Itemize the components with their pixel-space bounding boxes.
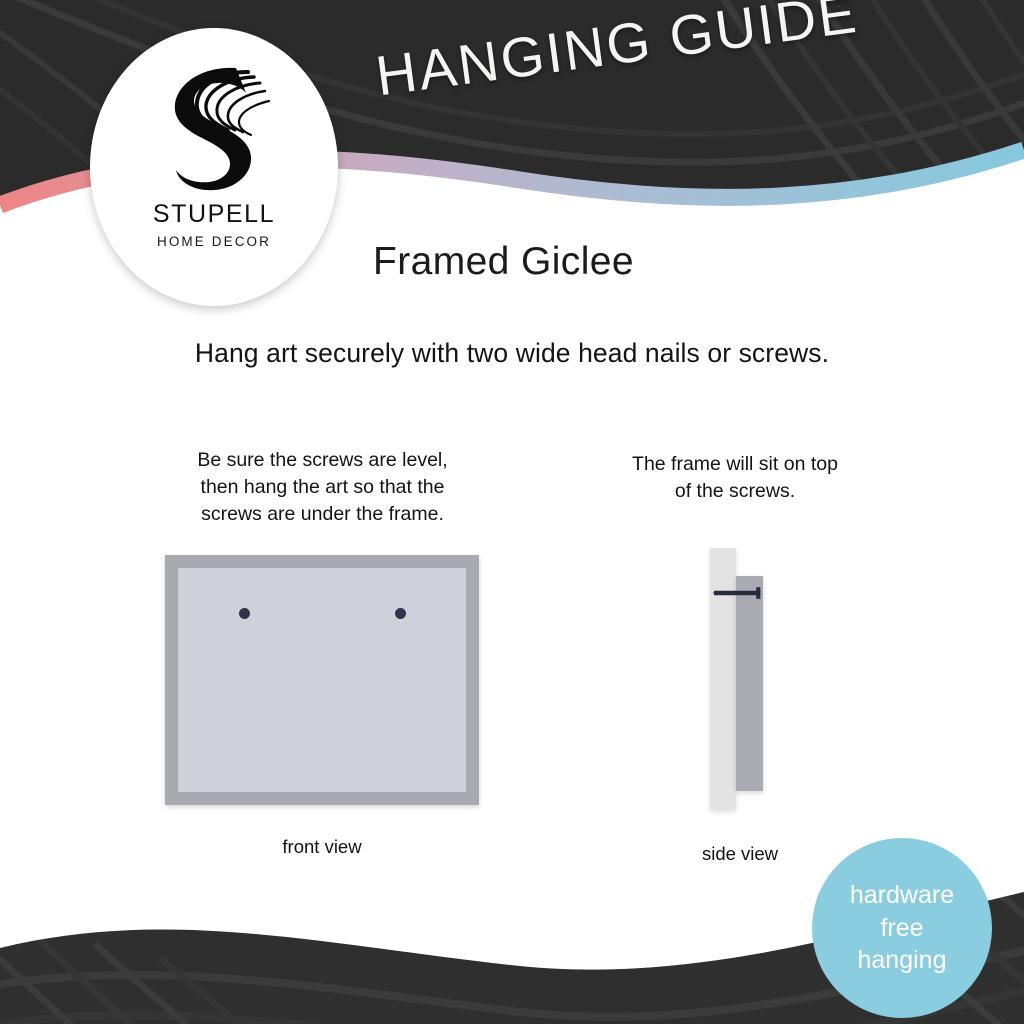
frame-mat-area [178,568,466,792]
badge-line-3: hanging [858,944,947,977]
side-caption-line-2: of the screws. [592,478,878,505]
brand-name: STUPELL [153,200,275,229]
hanging-guide-infographic: STUPELL HOME DECOR HANGING GUIDE Framed … [0,0,1024,1024]
side-view-caption: The frame will sit on top of the screws. [592,451,878,505]
badge-line-1: hardware [850,879,954,912]
stupell-swirl-logo-icon [144,60,284,192]
product-type-label: Framed Giclee [373,240,634,284]
brand-logo-badge: STUPELL HOME DECOR [90,28,338,306]
brand-tagline: HOME DECOR [157,234,271,249]
side-view-diagram [700,548,780,813]
hardware-free-hanging-badge: hardware free hanging [812,838,992,1018]
badge-line-2: free [880,912,923,945]
page-title: HANGING GUIDE [372,0,862,108]
front-view-label: front view [165,836,479,858]
screw-dot-left [239,608,250,619]
primary-instruction: Hang art securely with two wide head nai… [0,338,1024,369]
front-view-diagram [165,555,479,805]
side-caption-line-1: The frame will sit on top [592,451,878,478]
front-view-caption: Be sure the screws are level, then hang … [150,447,495,528]
front-caption-line-3: screws are under the frame. [150,501,495,528]
screw-dot-right [395,608,406,619]
front-caption-line-2: then hang the art so that the [150,474,495,501]
frame-cross-section [736,576,763,791]
side-view-label: side view [660,843,820,865]
nail-icon [712,586,768,600]
front-caption-line-1: Be sure the screws are level, [150,447,495,474]
